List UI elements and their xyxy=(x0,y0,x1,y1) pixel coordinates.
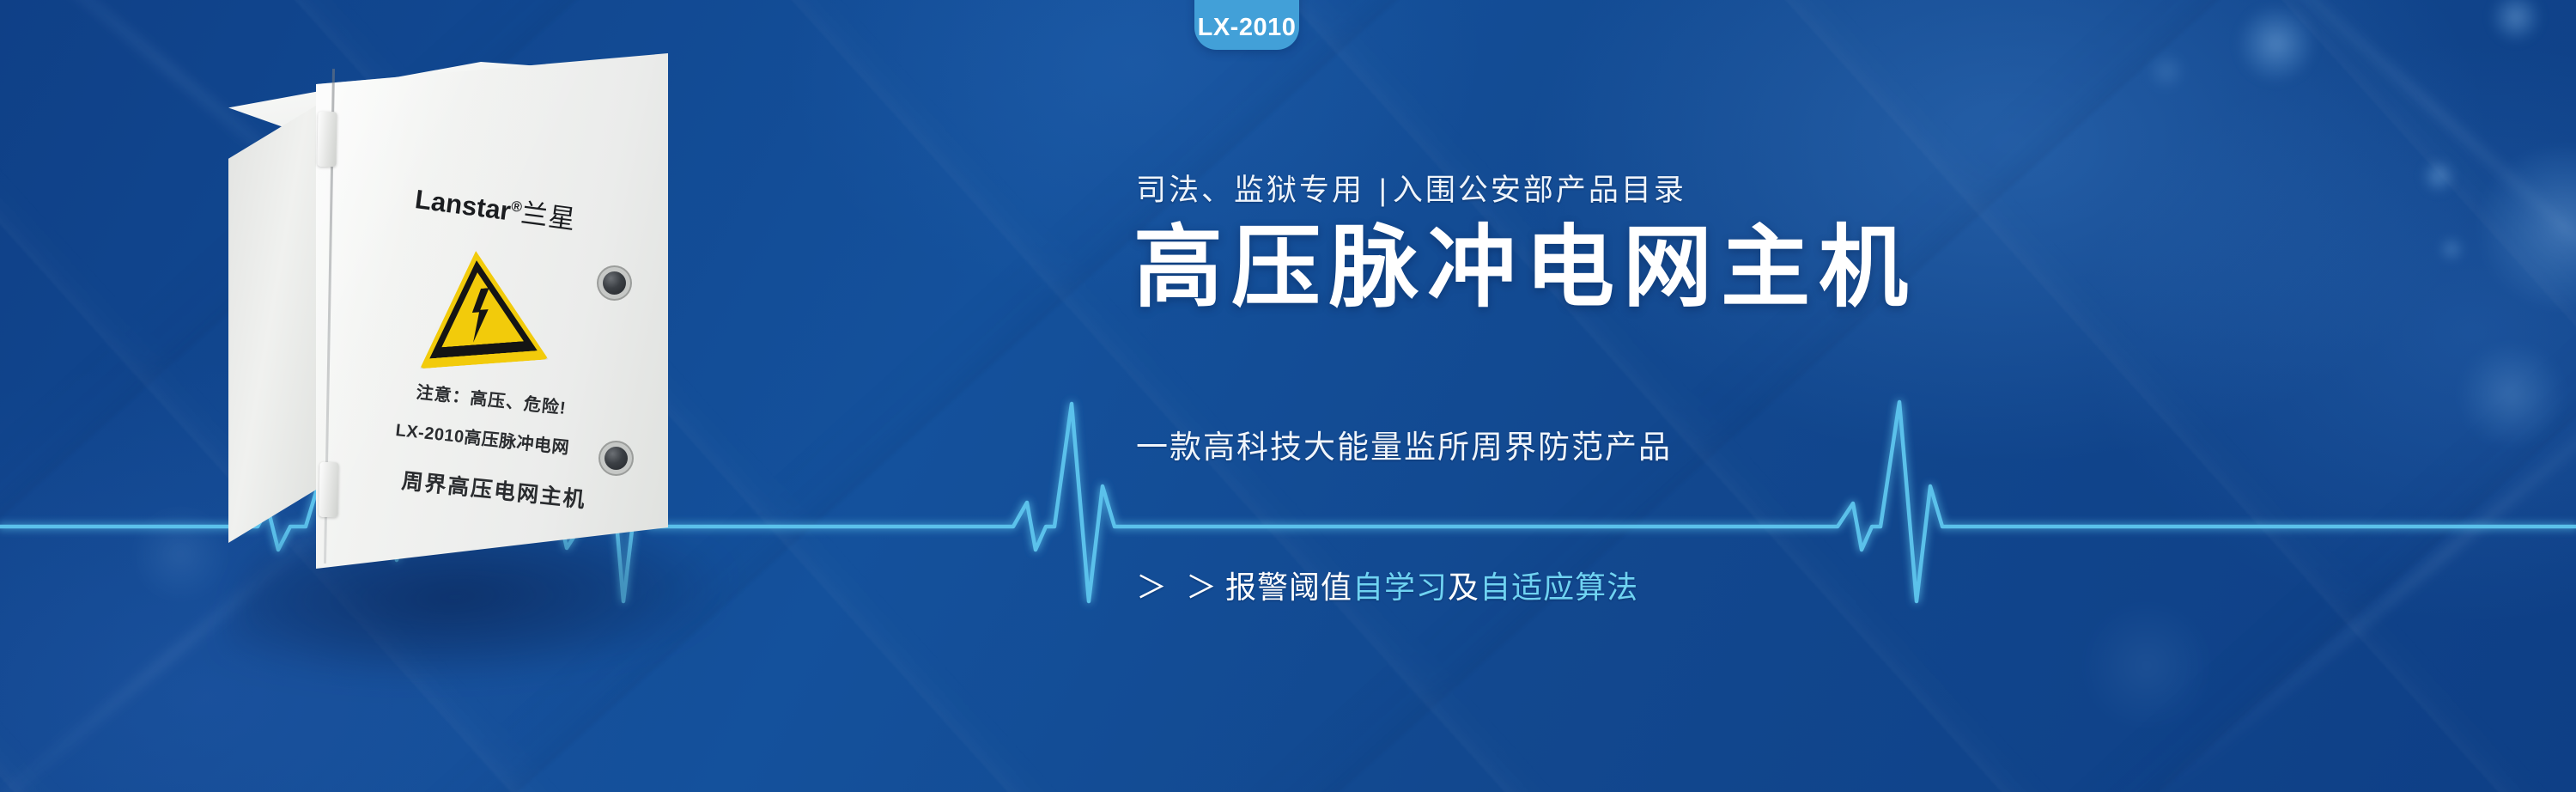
chevron-right-icon: ＞ ＞ xyxy=(1136,570,1222,605)
cabinet-hinge xyxy=(319,462,338,517)
product-image: Lanstar®兰星 注意：高压、危险! LX-2010高压脉冲电网 周界高压电… xyxy=(204,34,788,687)
feature-text-part-1: 报警阈值 xyxy=(1225,570,1352,605)
status-indicator-light xyxy=(605,447,628,470)
feature-line: ＞ ＞报警阈值自学习及自适应算法 xyxy=(1136,563,1638,607)
feature-highlight-2: 自适应算法 xyxy=(1479,570,1638,605)
eyebrow-separator: | xyxy=(1379,174,1389,207)
status-indicator-light xyxy=(603,271,626,295)
eyebrow-text: 司法、监狱专用 |入围公安部产品目录 xyxy=(1136,166,1686,210)
model-badge-label: LX-2010 xyxy=(1194,14,1299,42)
eyebrow-right-text: 入围公安部产品目录 xyxy=(1393,174,1686,207)
high-voltage-warning-sign xyxy=(411,247,548,369)
page-title: 高压脉冲电网主机 xyxy=(1133,217,1917,320)
feature-text-part-2: 及 xyxy=(1448,570,1479,605)
product-banner: Lanstar®兰星 注意：高压、危险! LX-2010高压脉冲电网 周界高压电… xyxy=(0,0,2576,792)
banner-copy: LX-2010 司法、监狱专用 |入围公安部产品目录 高压脉冲电网主机 一款高科… xyxy=(1200,0,2540,792)
model-badge: LX-2010 xyxy=(1194,0,1299,50)
brand-cn-text: 兰星 xyxy=(519,198,578,235)
feature-highlight-1: 自学习 xyxy=(1352,570,1448,605)
subtitle-text: 一款高科技大能量监所周界防范产品 xyxy=(1136,421,1672,467)
eyebrow-left-text: 司法、监狱专用 xyxy=(1136,174,1364,207)
cabinet-hinge xyxy=(317,112,337,167)
